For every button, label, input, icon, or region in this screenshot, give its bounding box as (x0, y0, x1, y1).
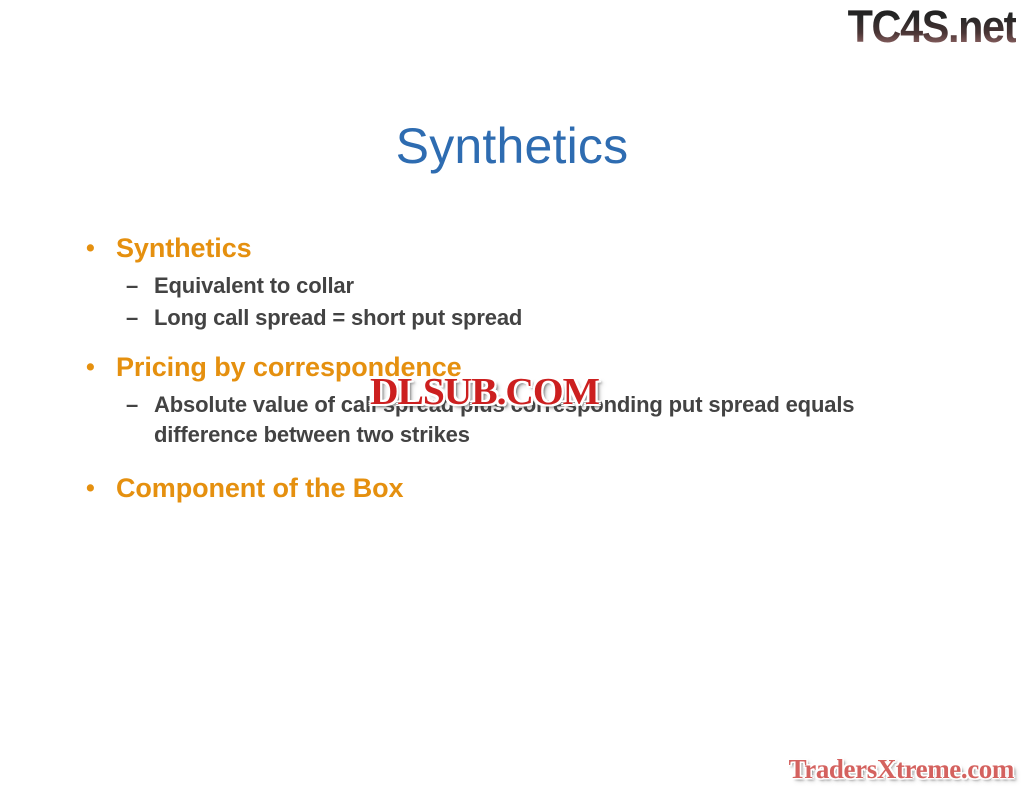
bullet-level2-text: Equivalent to collar (154, 271, 944, 301)
bullet-level1-text: Synthetics (116, 232, 958, 265)
bullet-level2: – Long call spread = short put spread (126, 303, 958, 333)
presentation-slide: TC4S.net Synthetics • Synthetics – Equiv… (0, 0, 1024, 791)
dash-marker-icon: – (126, 390, 154, 420)
bullet-dot-icon: • (78, 472, 116, 505)
bullet-dot-icon: • (78, 232, 116, 265)
bullet-level2-text: Long call spread = short put spread (154, 303, 944, 333)
bullet-level2: – Equivalent to collar (126, 271, 958, 301)
bullet-level1: • Component of the Box (78, 472, 958, 505)
tc4s-logo: TC4S.net (848, 2, 1016, 52)
dlsub-watermark: DLSUB.COM (370, 371, 599, 413)
bullet-level1-text: Component of the Box (116, 472, 958, 505)
dash-marker-icon: – (126, 271, 154, 301)
dash-marker-icon: – (126, 303, 154, 333)
slide-title: Synthetics (0, 116, 1024, 176)
tradersxtreme-watermark: TradersXtreme.com (789, 753, 1014, 785)
bullet-dot-icon: • (78, 351, 116, 384)
bullet-level1: • Synthetics (78, 232, 958, 265)
